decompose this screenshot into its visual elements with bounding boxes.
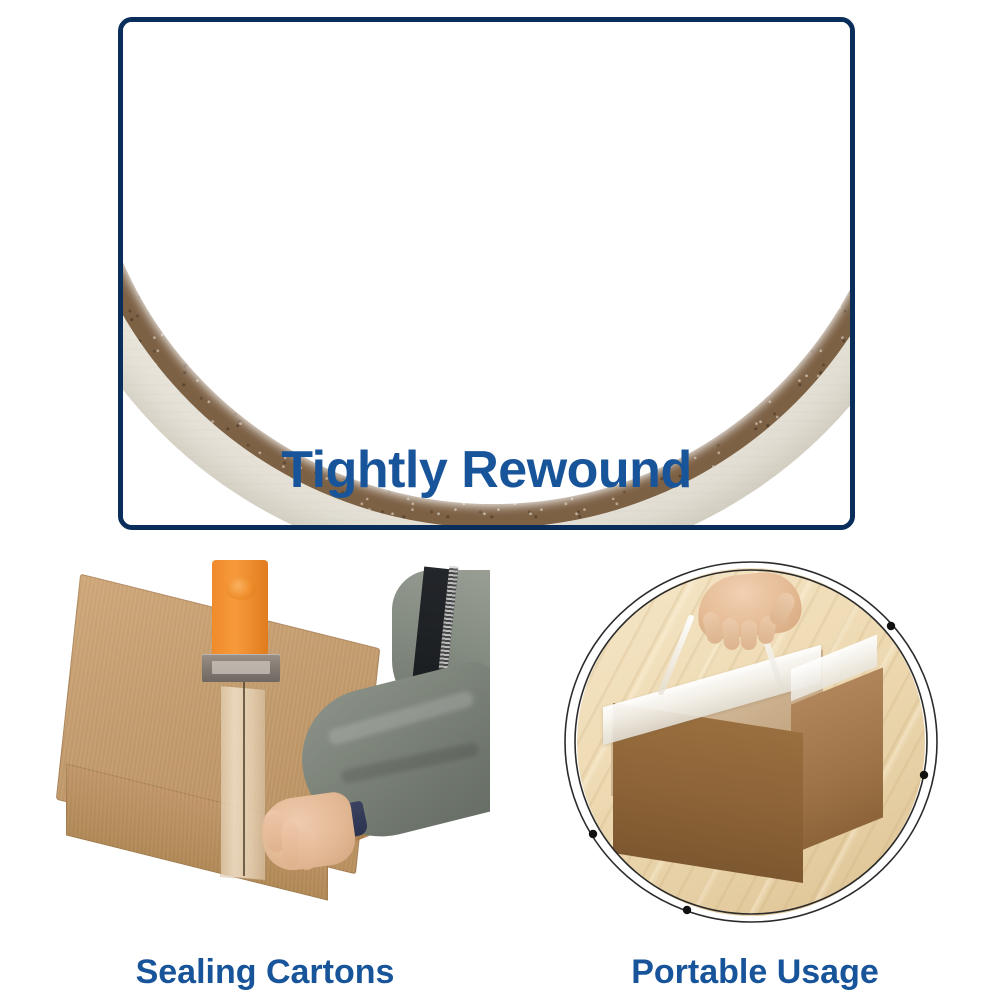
top-panel-caption: Tightly Rewound (123, 440, 850, 500)
bottom-left-caption: Sealing Cartons (40, 953, 490, 992)
orbit-dot (887, 622, 895, 630)
portable-usage-photo (545, 560, 965, 930)
orbit-arc-inner (575, 570, 927, 914)
sealing-cartons-tile: Sealing Cartons (40, 560, 490, 1000)
tape-dispenser-knob-icon (226, 578, 256, 600)
orbit-dot (920, 771, 928, 779)
hand-finger (297, 828, 316, 871)
orbit-dot (683, 906, 691, 914)
decorative-orbit-arcs (545, 560, 965, 932)
bottom-right-caption: Portable Usage (545, 953, 965, 992)
sealing-cartons-photo (40, 560, 490, 920)
carton-seam-line (243, 680, 245, 876)
tape-dispenser-label (212, 661, 270, 674)
orbit-arc-outer (565, 562, 937, 922)
portable-usage-tile: Portable Usage (545, 560, 965, 1000)
tape-dispenser-body (212, 560, 268, 658)
feature-tiles-row: Sealing Cartons (0, 560, 1000, 1000)
tightly-rewound-panel: Tightly Rewound (118, 17, 855, 530)
orbit-dot (589, 830, 597, 838)
